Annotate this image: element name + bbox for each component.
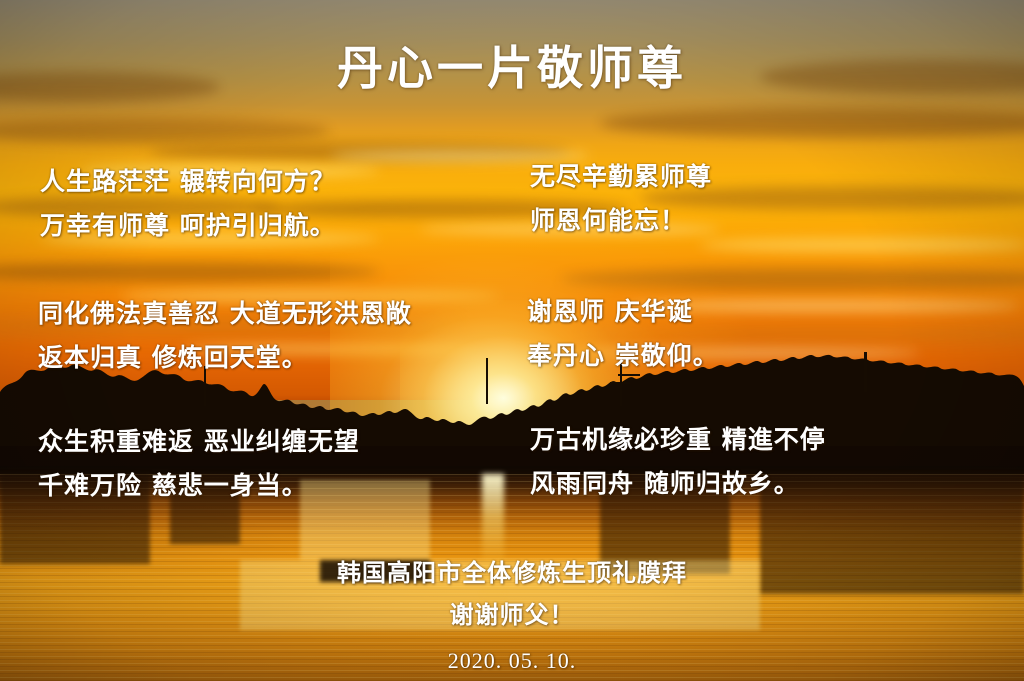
stanza-left-2: 同化佛法真善忍 大道无形洪恩敞 返本归真 修炼回天堂。	[38, 292, 412, 380]
stanza-left-2-line-1: 同化佛法真善忍 大道无形洪恩敞	[38, 292, 412, 336]
stanza-right-2-line-1: 谢恩师 庆华诞	[527, 290, 719, 334]
poem-title: 丹心一片敬师尊	[0, 42, 1024, 95]
stanza-right-3-line-2: 风雨同舟 随师归故乡。	[530, 462, 826, 506]
stanza-right-1-line-1: 无尽辛勤累师尊	[530, 155, 712, 199]
stanza-left-1-line-1: 人生路茫茫 辗转向何方？	[40, 160, 336, 204]
stanza-left-2-line-2: 返本归真 修炼回天堂。	[38, 336, 412, 380]
stanza-left-3: 众生积重难返 恶业纠缠无望 千难万险 慈悲一身当。	[38, 420, 360, 508]
signature-date: 2020. 05. 10.	[0, 640, 1024, 681]
greeting-poster: 丹心一片敬师尊 人生路茫茫 辗转向何方？ 万幸有师尊 呵护引归航。 无尽辛勤累师…	[0, 0, 1024, 681]
stanza-left-1: 人生路茫茫 辗转向何方？ 万幸有师尊 呵护引归航。	[40, 160, 336, 248]
stanza-left-1-line-2: 万幸有师尊 呵护引归航。	[40, 204, 336, 248]
signature-block: 韩国高阳市全体修炼生顶礼膜拜 谢谢师父！ 2020. 05. 10.	[0, 552, 1024, 681]
stanza-right-1-line-2: 师恩何能忘！	[530, 199, 712, 243]
poem-text-layer: 丹心一片敬师尊 人生路茫茫 辗转向何方？ 万幸有师尊 呵护引归航。 无尽辛勤累师…	[0, 0, 1024, 681]
stanza-right-1: 无尽辛勤累师尊 师恩何能忘！	[530, 155, 712, 243]
stanza-right-2: 谢恩师 庆华诞 奉丹心 崇敬仰。	[527, 290, 719, 378]
stanza-right-3: 万古机缘必珍重 精進不停 风雨同舟 随师归故乡。	[530, 418, 826, 506]
signature-line-1: 韩国高阳市全体修炼生顶礼膜拜	[0, 552, 1024, 594]
stanza-left-3-line-1: 众生积重难返 恶业纠缠无望	[38, 420, 360, 464]
stanza-left-3-line-2: 千难万险 慈悲一身当。	[38, 464, 360, 508]
signature-line-2: 谢谢师父！	[0, 594, 1024, 636]
stanza-right-3-line-1: 万古机缘必珍重 精進不停	[530, 418, 826, 462]
stanza-right-2-line-2: 奉丹心 崇敬仰。	[527, 334, 719, 378]
